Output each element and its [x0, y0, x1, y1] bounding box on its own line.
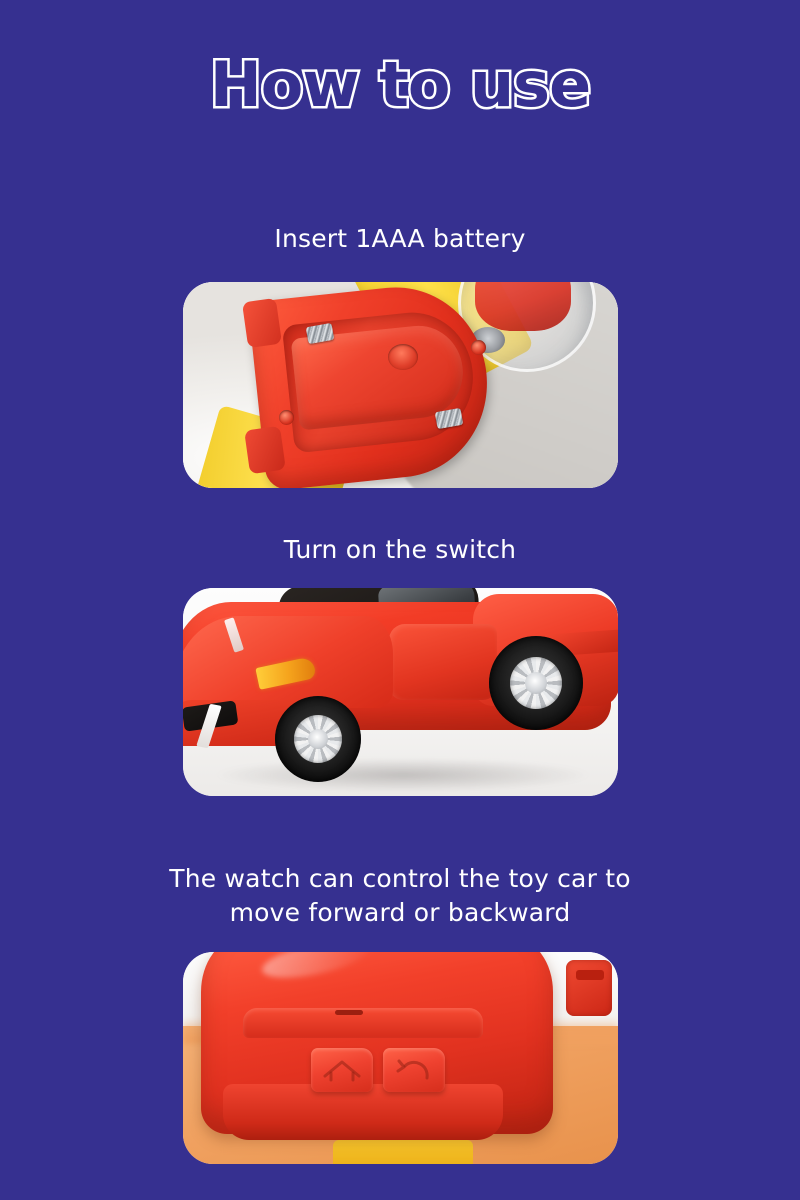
watch-lug-notch	[576, 970, 604, 980]
arrow-back-curved-icon	[389, 1054, 439, 1086]
how-to-use-page: How to use Insert 1AAA battery	[0, 0, 800, 1200]
car-front-wheel	[275, 696, 361, 782]
car-rear-wheel	[489, 636, 583, 730]
car-door	[389, 624, 497, 700]
forward-button[interactable]	[311, 1048, 373, 1092]
car-ground-shadow	[213, 758, 593, 792]
page-title-container: How to use	[0, 52, 800, 117]
step-3-caption: The watch can control the toy car to mov…	[0, 862, 800, 930]
step-1-caption: Insert 1AAA battery	[0, 222, 800, 256]
step-3-photo-card	[183, 952, 618, 1164]
step-3-caption-line-1: The watch can control the toy car to	[0, 862, 800, 896]
gloss-highlight	[259, 952, 373, 985]
watch-lug-lower	[244, 426, 286, 475]
step-2-caption: Turn on the switch	[0, 533, 800, 567]
watch-case-lip	[243, 1008, 483, 1038]
watch-case-skirt	[223, 1084, 503, 1140]
case-screw-right	[471, 340, 486, 355]
case-boss	[388, 344, 418, 370]
watch-case-slot	[335, 1010, 363, 1015]
red-toy-car-photo	[183, 588, 618, 796]
page-title: How to use	[210, 52, 590, 117]
arrow-up-forward-icon	[317, 1054, 367, 1086]
watch-lug-upper	[242, 298, 282, 348]
step-2-photo-card	[183, 588, 618, 796]
case-screw-left	[279, 410, 294, 425]
watch-lug-right	[566, 960, 612, 1016]
watch-control-buttons-photo	[183, 952, 618, 1164]
step-3-caption-line-2: move forward or backward	[0, 896, 800, 930]
watch-back-battery-compartment-photo	[183, 282, 618, 488]
step-1-photo-card	[183, 282, 618, 488]
toy-car-in-dome	[475, 282, 571, 331]
backward-button[interactable]	[383, 1048, 445, 1092]
watch-strap	[333, 1140, 473, 1164]
